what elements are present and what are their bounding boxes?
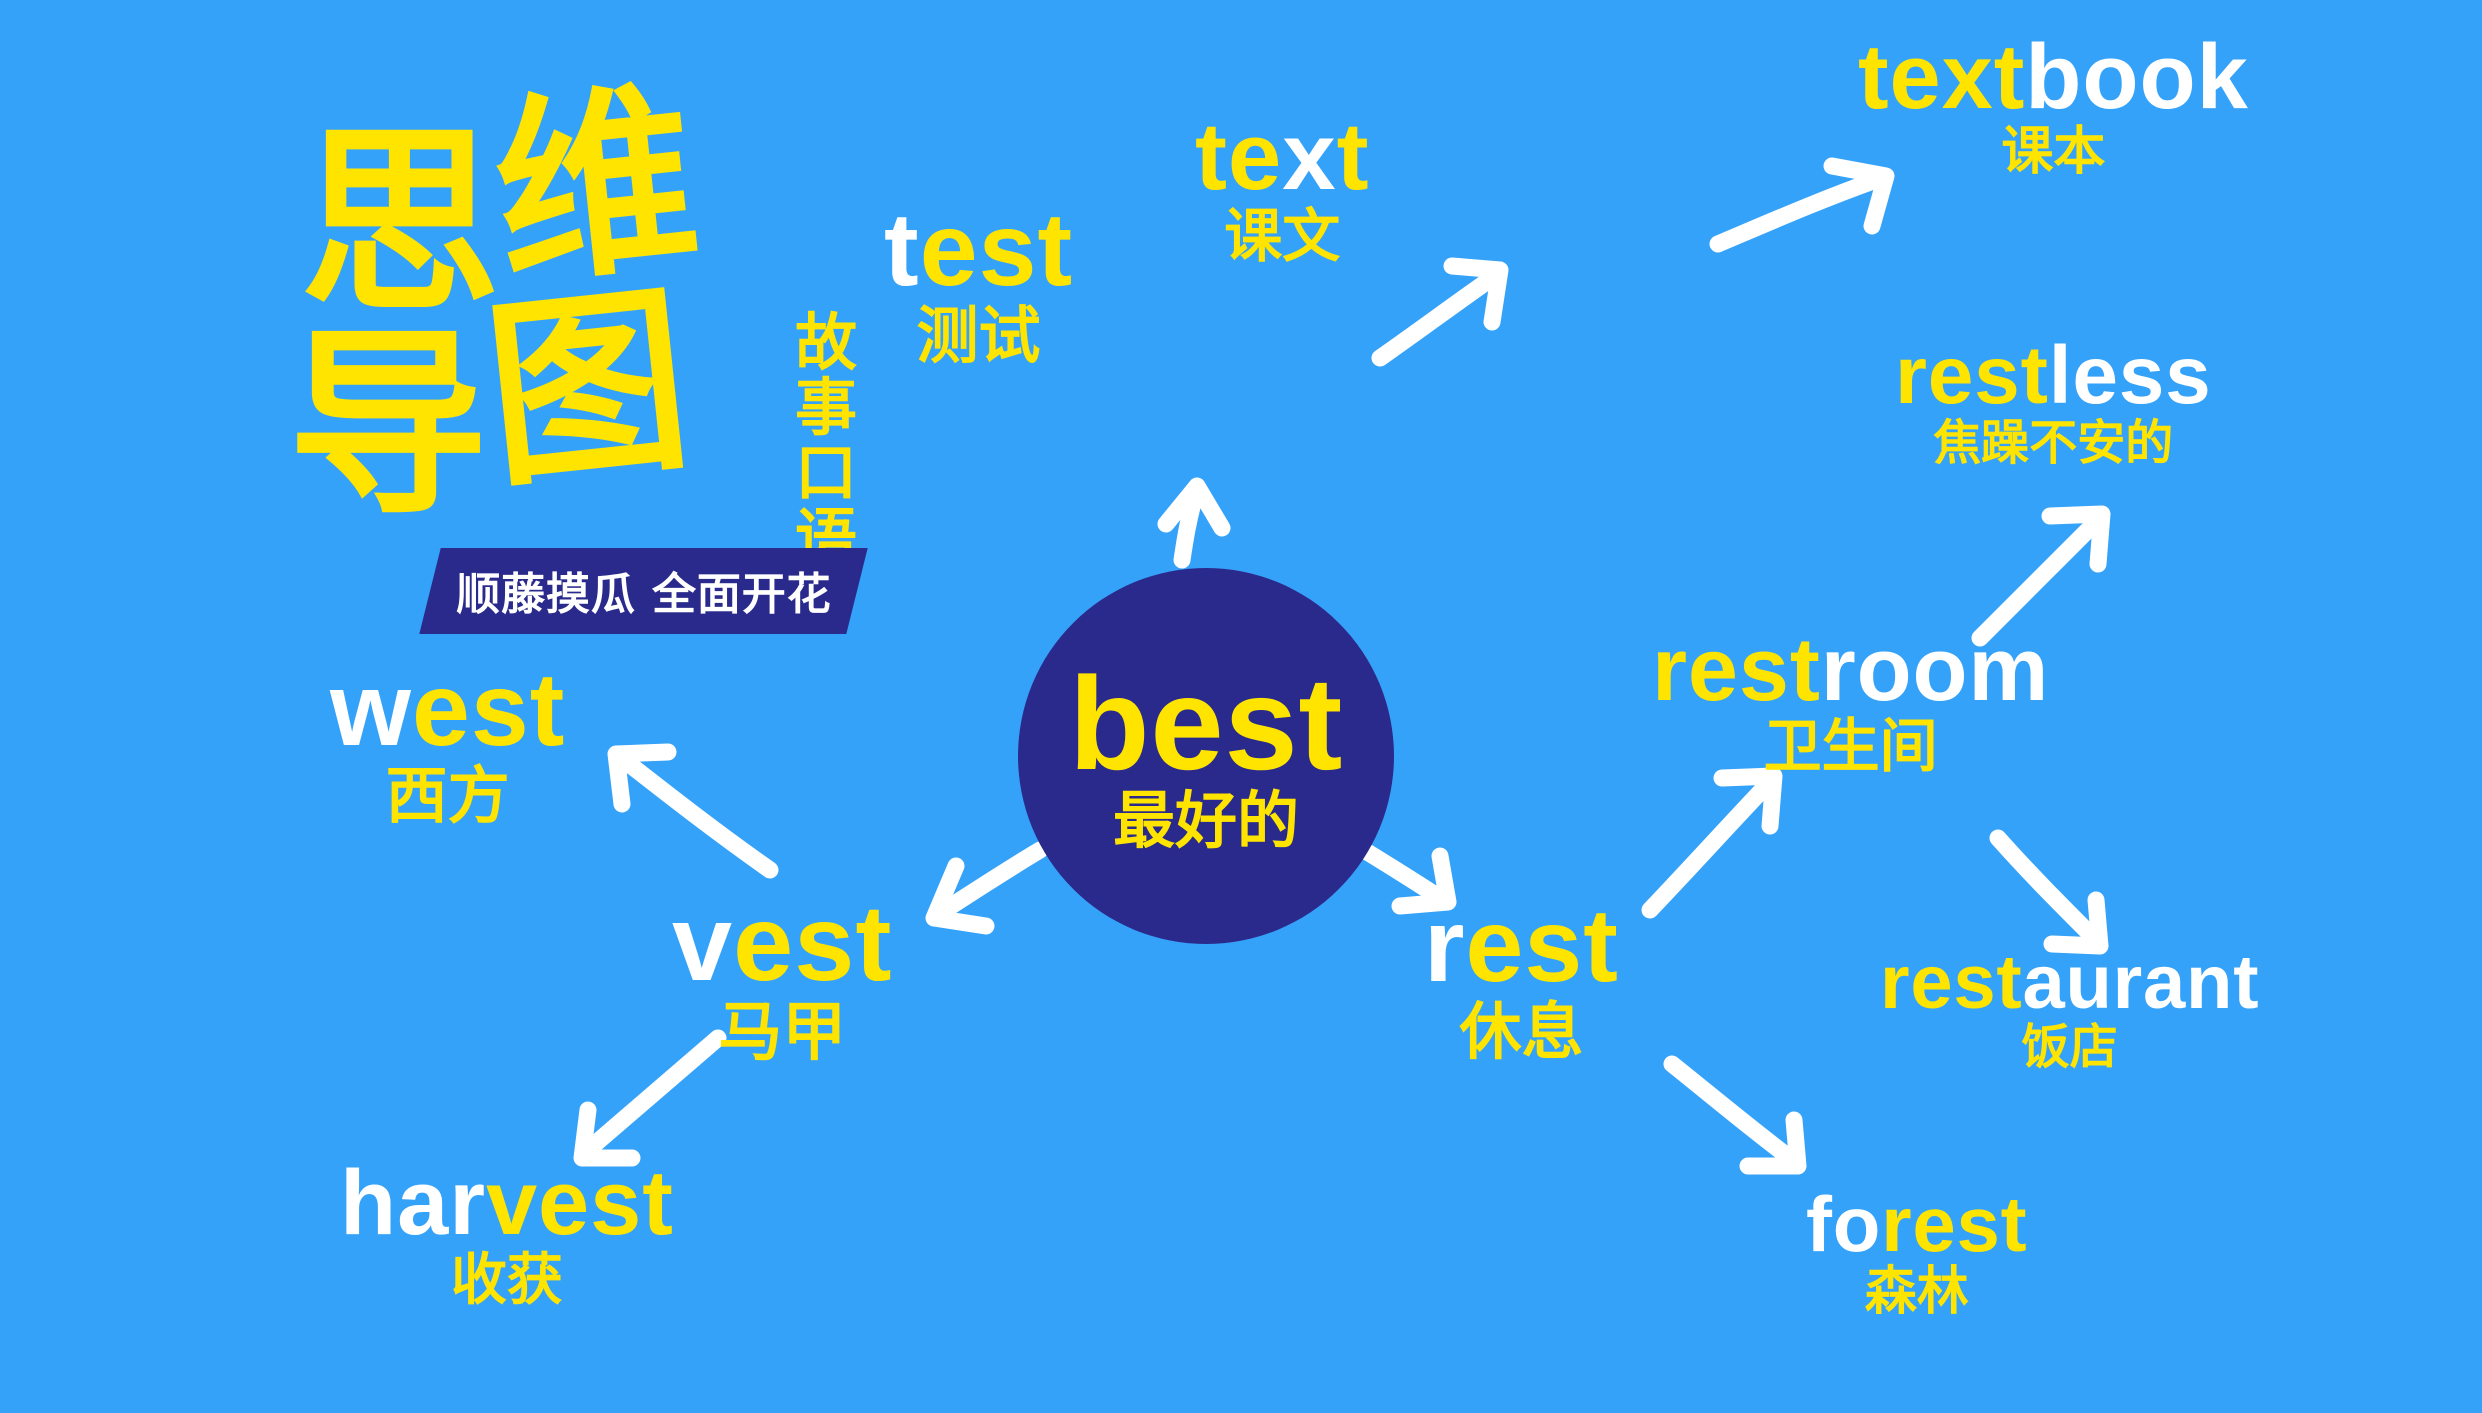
node-rest[interactable]: rest 休息 bbox=[1424, 896, 1619, 1064]
node-text-suffix: t bbox=[1337, 103, 1370, 210]
node-rest-white: r bbox=[1424, 888, 1466, 1004]
node-restless-word: restless bbox=[1895, 336, 2212, 416]
node-restroom-yellow: rest bbox=[1652, 620, 1821, 720]
node-restroom-white: room bbox=[1821, 620, 2050, 720]
arrow-best-to-test bbox=[1166, 486, 1222, 560]
node-restroom-translation: 卫生间 bbox=[1652, 718, 2049, 776]
node-vest-translation: 马甲 bbox=[672, 1000, 893, 1064]
node-west-yellow: est bbox=[412, 652, 565, 768]
arrow-test-to-text bbox=[1380, 266, 1500, 358]
title-banner: 顺藤摸瓜 全面开花 bbox=[419, 548, 868, 634]
node-restless-white: less bbox=[2049, 330, 2212, 421]
node-restaurant-translation: 饭店 bbox=[1880, 1024, 2259, 1072]
node-restaurant-word: restaurant bbox=[1880, 946, 2259, 1020]
node-forest-white: fo bbox=[1806, 1180, 1881, 1268]
center-node-best[interactable]: best 最好的 bbox=[1018, 568, 1394, 944]
node-text[interactable]: text 课文 bbox=[1195, 110, 1370, 266]
title-char-4: 图 bbox=[478, 280, 698, 500]
node-west-white: w bbox=[330, 652, 412, 768]
arrow-rest-to-forest bbox=[1672, 1064, 1798, 1166]
mindmap-canvas: 思 维 导 图 故 事 口 语 顺藤摸瓜 全面开花 best 最好的 test … bbox=[0, 0, 2482, 1413]
node-west-translation: 西方 bbox=[330, 766, 565, 828]
node-forest-yellow: rest bbox=[1881, 1180, 2027, 1268]
title-vertical-char-2: 事 bbox=[790, 375, 862, 440]
node-forest-translation: 森林 bbox=[1806, 1266, 2027, 1318]
title-char-3: 导 bbox=[288, 326, 488, 526]
node-restroom[interactable]: restroom 卫生间 bbox=[1652, 626, 2049, 776]
node-vest-white: v bbox=[672, 882, 733, 1003]
node-text-translation: 课文 bbox=[1195, 208, 1370, 266]
node-restless-translation: 焦躁不安的 bbox=[1895, 420, 2212, 468]
arrow-vest-to-west bbox=[616, 752, 770, 870]
node-forest[interactable]: forest 森林 bbox=[1806, 1186, 2027, 1318]
node-text-middle: x bbox=[1282, 103, 1336, 210]
node-textbook-word: textbook bbox=[1858, 32, 2249, 122]
arrow-restroom-to-restaurant bbox=[1998, 838, 2100, 946]
node-text-prefix: te bbox=[1195, 103, 1282, 210]
node-textbook-white: book bbox=[2025, 26, 2248, 128]
node-rest-yellow: est bbox=[1466, 888, 1619, 1004]
node-vest-word: vest bbox=[672, 890, 893, 996]
node-forest-word: forest bbox=[1806, 1186, 2027, 1262]
node-textbook[interactable]: textbook 课本 bbox=[1858, 32, 2249, 178]
node-west[interactable]: west 西方 bbox=[330, 660, 565, 828]
title-vertical-char-1: 故 bbox=[790, 310, 862, 375]
title-char-1: 思 bbox=[300, 124, 500, 324]
title-block: 思 维 导 图 故 事 口 语 顺藤摸瓜 全面开花 bbox=[290, 130, 970, 650]
node-harvest-white: har bbox=[340, 1152, 486, 1254]
node-test-yellow: est bbox=[920, 192, 1073, 308]
node-west-word: west bbox=[330, 660, 565, 762]
node-textbook-yellow: text bbox=[1858, 26, 2025, 128]
node-harvest-word: harvest bbox=[340, 1158, 674, 1248]
node-restaurant-white: aurant bbox=[2022, 940, 2259, 1025]
center-node-translation: 最好的 bbox=[1113, 791, 1299, 853]
center-node-word: best bbox=[1069, 659, 1343, 788]
title-vertical-char-3: 口 bbox=[790, 440, 862, 505]
node-text-word: text bbox=[1195, 110, 1370, 204]
arrow-rest-to-restroom bbox=[1650, 776, 1774, 910]
node-textbook-translation: 课本 bbox=[1858, 126, 2249, 178]
node-restless[interactable]: restless 焦躁不安的 bbox=[1895, 336, 2212, 468]
node-rest-translation: 休息 bbox=[1424, 1002, 1619, 1064]
node-vest[interactable]: vest 马甲 bbox=[672, 890, 893, 1064]
node-restaurant[interactable]: restaurant 饭店 bbox=[1880, 946, 2259, 1072]
node-harvest-translation: 收获 bbox=[340, 1252, 674, 1308]
node-restaurant-yellow: rest bbox=[1880, 940, 2022, 1025]
title-characters: 思 维 导 图 bbox=[300, 130, 770, 550]
title-banner-label: 顺藤摸瓜 全面开花 bbox=[456, 558, 831, 622]
node-restless-yellow: rest bbox=[1895, 330, 2049, 421]
title-vertical-text: 故 事 口 语 bbox=[790, 310, 862, 570]
node-harvest[interactable]: harvest 收获 bbox=[340, 1158, 674, 1308]
node-harvest-yellow: vest bbox=[486, 1152, 674, 1254]
node-test-translation: 测试 bbox=[884, 306, 1073, 368]
arrow-best-to-vest bbox=[934, 850, 1040, 926]
node-rest-word: rest bbox=[1424, 896, 1619, 998]
node-test[interactable]: test 测试 bbox=[884, 200, 1073, 368]
node-restroom-word: restroom bbox=[1652, 626, 2049, 714]
node-test-white: t bbox=[884, 192, 920, 308]
node-vest-yellow: est bbox=[733, 882, 892, 1003]
node-test-word: test bbox=[884, 200, 1073, 302]
